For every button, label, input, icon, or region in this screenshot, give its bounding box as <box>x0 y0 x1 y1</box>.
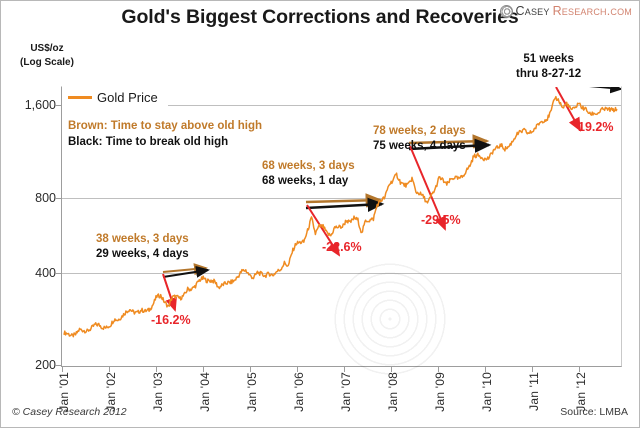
annotation-3: 78 weeks, 2 days 75 weeks, 4 days <box>373 124 466 154</box>
y-tick-label-200: 200 <box>0 358 56 372</box>
annotation-2: 68 weeks, 3 days 68 weeks, 1 day <box>262 159 355 189</box>
x-tick-mark-jan10 <box>485 367 486 372</box>
y-axis-caption: US$/oz (Log Scale) <box>10 42 84 70</box>
casey-research-logo: Casey Research.com <box>500 4 632 18</box>
x-tick-mark-jan06 <box>297 367 298 372</box>
annotation-2-brown: 68 weeks, 3 days <box>262 159 355 174</box>
legend-swatch-gold-price <box>68 96 92 99</box>
annotation-4-line1: 51 weeks <box>516 52 581 67</box>
x-tick-label-jan10: Jan '10 <box>480 372 494 412</box>
casey-spiral-icon <box>500 5 513 18</box>
x-tick-label-jan06: Jan '06 <box>292 372 306 412</box>
x-tick-label-jan04: Jan '04 <box>198 372 212 412</box>
x-tick-mark-jan07 <box>344 367 345 372</box>
x-tick-label-jan08: Jan '08 <box>386 372 400 412</box>
annotation-3-brown: 78 weeks, 2 days <box>373 124 466 139</box>
x-tick-label-jan03: Jan '03 <box>151 372 165 412</box>
annotation-1-brown: 38 weeks, 3 days <box>96 232 189 247</box>
y-tick-label-800: 800 <box>0 191 56 205</box>
brand-name-secondary: Research.com <box>553 4 632 18</box>
x-tick-mark-jan05 <box>250 367 251 372</box>
annotation-2-pct: -22.6% <box>322 240 362 254</box>
annotation-1: 38 weeks, 3 days 29 weeks, 4 days <box>96 232 189 262</box>
chart-legend: Gold Price <box>62 87 168 108</box>
x-tick-mark-jan11 <box>532 367 533 372</box>
x-tick-mark-jan12 <box>579 367 580 372</box>
y-tick-label-400: 400 <box>0 266 56 280</box>
x-tick-label-jan07: Jan '07 <box>339 372 353 412</box>
recovery-arrow-brown-2 <box>306 200 380 202</box>
x-tick-mark-jan04 <box>203 367 204 372</box>
legend-notes: Brown: Time to stay above old high Black… <box>68 118 262 150</box>
copyright-text: © Casey Research 2012 <box>12 406 127 418</box>
brand-name-primary: Casey <box>516 4 550 18</box>
x-tick-mark-jan08 <box>391 367 392 372</box>
x-tick-mark-jan03 <box>156 367 157 372</box>
y-axis-caption-line1: US$/oz <box>30 43 63 54</box>
annotation-4-line2: thru 8-27-12 <box>516 67 581 82</box>
annotation-4-pct: 19.2% <box>578 120 613 134</box>
note-brown: Brown: Time to stay above old high <box>68 118 262 134</box>
annotation-4: 51 weeks thru 8-27-12 <box>516 52 581 82</box>
x-tick-mark-jan01 <box>62 367 63 372</box>
annotation-1-black: 29 weeks, 4 days <box>96 247 189 262</box>
y-axis-caption-line2: (Log Scale) <box>20 57 74 68</box>
drawdown-arrow-4 <box>556 87 580 130</box>
source-text: Source: LMBA <box>560 406 628 418</box>
x-tick-label-jan09: Jan '09 <box>433 372 447 412</box>
annotation-1-pct: -16.2% <box>151 313 191 327</box>
x-tick-label-jan05: Jan '05 <box>245 372 259 412</box>
recovery-arrow-black-4 <box>555 87 621 89</box>
y-tick-label-1600: 1,600 <box>0 98 56 112</box>
x-tick-mark-jan02 <box>109 367 110 372</box>
x-tick-label-jan11: Jan '11 <box>527 372 541 411</box>
drawdown-arrow-1 <box>163 274 175 310</box>
annotation-3-black: 75 weeks, 4 days <box>373 139 466 154</box>
note-black: Black: Time to break old high <box>68 134 262 150</box>
recovery-arrow-black-2 <box>306 204 382 208</box>
annotation-2-black: 68 weeks, 1 day <box>262 174 355 189</box>
annotation-3-pct: -29.5% <box>421 213 461 227</box>
x-tick-mark-jan09 <box>438 367 439 372</box>
legend-label-gold-price: Gold Price <box>97 90 158 105</box>
